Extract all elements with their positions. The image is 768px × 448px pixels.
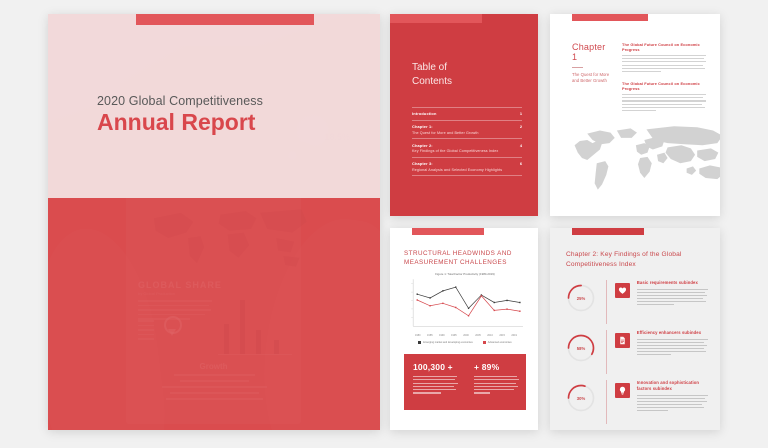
structural-heading-line1: STRUCTURAL HEADWINDS AND <box>404 249 526 258</box>
x-tick: 2005 <box>475 334 481 337</box>
row-body-text <box>637 289 708 305</box>
chapter1-divider <box>572 67 583 68</box>
cover-page[interactable]: 18.5% <box>48 14 380 430</box>
cover-title: Annual Report <box>97 110 263 136</box>
x-tick: 1980 <box>415 334 421 337</box>
list-item[interactable]: Introduction 1 <box>412 107 522 120</box>
chapter1-block-text <box>622 94 706 111</box>
donut-percent-label: 25% <box>566 283 596 313</box>
x-tick: 1990 <box>439 334 445 337</box>
legend-swatch <box>418 341 421 344</box>
chapter1-block-text <box>622 55 706 72</box>
chapter1-page[interactable]: Chapter 1 The Quest for More and Better … <box>550 14 720 216</box>
chapter2-heading: Chapter 2: Key Findings of the Global Co… <box>566 250 706 269</box>
legend-label: Advanced economies <box>488 341 512 344</box>
donut-chart: 25% <box>566 283 596 313</box>
chapter2-rows: 25% Basic requirements subindex <box>566 280 708 430</box>
toc-item-desc: The Quest for More and Better Growth <box>412 131 522 135</box>
slide-canvas: 18.5% <box>0 0 768 448</box>
toc-item-page: 4 <box>520 143 522 148</box>
x-tick: 2019 <box>511 334 517 337</box>
list-item[interactable]: 58% Efficiency enhancers subindex <box>566 330 708 374</box>
chart-title: Figure 1: Total Factor Productivity (198… <box>404 272 526 276</box>
stat-text <box>413 376 460 394</box>
structural-headwinds-page[interactable]: STRUCTURAL HEADWINDS AND MEASUREMENT CHA… <box>390 228 538 430</box>
toc-item-desc: Key Findings of the Global Competitivene… <box>412 149 522 153</box>
x-tick: 1995 <box>451 334 457 337</box>
toc-item-title: Chapter 2: <box>412 143 522 148</box>
toc-accent-bar <box>390 14 482 23</box>
chapter1-body-column: The Global Future Council on Economic Pr… <box>622 42 706 120</box>
toc-item-page: 6 <box>520 161 522 166</box>
legend-entry: Advanced economies <box>483 341 512 344</box>
world-map-icon <box>564 122 720 196</box>
toc-heading-line2: Contents <box>412 75 452 89</box>
structural-accent-bar <box>412 228 484 235</box>
x-tick: 2015 <box>499 334 505 337</box>
statistics-band: 100,300 + + 89% <box>404 354 526 410</box>
toc-heading-line1: Table of <box>412 61 452 75</box>
cover-text-block: 2020 Global Competitiveness Annual Repor… <box>97 94 263 136</box>
chapter1-block-heading: The Global Future Council on Economic Pr… <box>622 42 706 52</box>
chapter1-accent-bar <box>572 14 648 21</box>
row-divider <box>606 380 607 424</box>
legend-swatch <box>483 341 486 344</box>
stat-block: + 89% <box>465 354 526 410</box>
list-item[interactable]: Chapter 3: Regional Analysis and Selecte… <box>412 157 522 176</box>
cover-accent-bar <box>136 14 314 25</box>
donut-chart: 58% <box>566 333 596 363</box>
donut-percent-label: 58% <box>566 333 596 363</box>
chapter2-heading-line2: Competitiveness Index <box>566 260 706 270</box>
toc-heading: Table of Contents <box>412 61 452 88</box>
row-divider <box>606 280 607 324</box>
x-tick: 2000 <box>463 334 469 337</box>
row-text: Innovation and sophistication factors su… <box>637 380 708 413</box>
list-item[interactable]: 25% Basic requirements subindex <box>566 280 708 324</box>
stat-number: + 89% <box>474 362 521 372</box>
chapter1-heading: Chapter 1 <box>572 42 612 62</box>
chart-x-axis-labels: 1980 1985 1990 1995 2000 2005 2010 2015 … <box>404 334 526 337</box>
toc-item-title: Chapter 3: <box>412 161 522 166</box>
stat-number: 100,300 + <box>413 362 460 372</box>
list-item[interactable]: Chapter 1: The Quest for More and Better… <box>412 120 522 138</box>
legend-entry: Emerging market and developing economies <box>418 341 472 344</box>
productivity-line-chart: Figure 1: Total Factor Productivity (198… <box>404 272 526 348</box>
chapter1-left-column: Chapter 1 The Quest for More and Better … <box>572 42 612 85</box>
row-title: Efficiency enhancers subindex <box>637 330 708 336</box>
lightbulb-icon <box>615 383 630 398</box>
row-text: Basic requirements subindex <box>637 280 708 307</box>
toc-item-title: Chapter 1: <box>412 124 522 129</box>
toc-item-page: 1 <box>520 111 522 116</box>
toc-item-title: Introduction <box>412 111 522 116</box>
cover-kicker: 2020 Global Competitiveness <box>97 94 263 109</box>
chapter2-heading-line1: Chapter 2: Key Findings of the Global <box>566 250 706 260</box>
chart-plot-area <box>404 277 526 333</box>
chapter2-page[interactable]: Chapter 2: Key Findings of the Global Co… <box>550 228 720 430</box>
chapter1-block-heading: The Global Future Council on Economic Pr… <box>622 81 706 91</box>
chapter1-subtitle: The Quest for More and Better Growth <box>572 72 612 85</box>
toc-list: Introduction 1 Chapter 1: The Quest for … <box>412 107 522 176</box>
row-text: Efficiency enhancers subindex <box>637 330 708 357</box>
heart-chart-icon <box>615 283 630 298</box>
x-tick: 1985 <box>427 334 433 337</box>
structural-heading: STRUCTURAL HEADWINDS AND MEASUREMENT CHA… <box>404 249 526 267</box>
row-body-text <box>637 339 708 355</box>
structural-heading-line2: MEASUREMENT CHALLENGES <box>404 258 526 267</box>
document-icon <box>615 333 630 348</box>
stat-block: 100,300 + <box>404 354 465 410</box>
chapter2-accent-bar <box>572 228 644 235</box>
legend-label: Emerging market and developing economies <box>423 341 472 344</box>
cover-photo: 18.5% <box>48 14 380 430</box>
row-title: Basic requirements subindex <box>637 280 708 286</box>
table-of-contents-page[interactable]: Table of Contents Introduction 1 Chapter… <box>390 14 538 216</box>
toc-item-page: 2 <box>520 124 522 129</box>
stat-text <box>474 376 521 394</box>
row-title: Innovation and sophistication factors su… <box>637 380 708 392</box>
toc-item-desc: Regional Analysis and Selected Economy H… <box>412 168 522 172</box>
chart-legend: Emerging market and developing economies… <box>404 341 526 344</box>
row-divider <box>606 330 607 374</box>
donut-chart: 30% <box>566 383 596 413</box>
list-item[interactable]: 30% Innovation and sophistication factor… <box>566 380 708 424</box>
row-body-text <box>637 395 708 411</box>
list-item[interactable]: Chapter 2: Key Findings of the Global Co… <box>412 138 522 156</box>
donut-percent-label: 30% <box>566 383 596 413</box>
x-tick: 2010 <box>487 334 493 337</box>
